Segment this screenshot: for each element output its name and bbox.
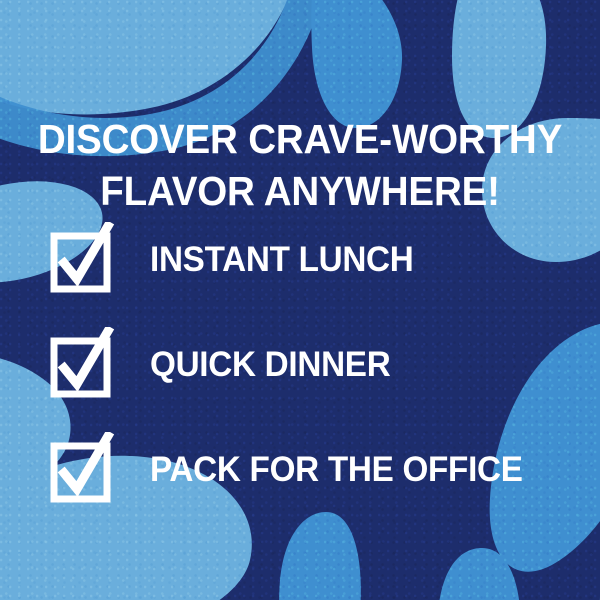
headline-line-1: DISCOVER CRAVE-WORTHY — [18, 113, 582, 165]
page-title: DISCOVER CRAVE-WORTHY FLAVOR ANYWHERE! — [18, 113, 582, 217]
list-item: INSTANT LUNCH — [0, 222, 600, 327]
benefit-label: PACK FOR THE OFFICE — [150, 452, 523, 488]
checkbox-checked-icon — [46, 432, 120, 504]
benefit-label: QUICK DINNER — [150, 347, 390, 383]
benefits-list: INSTANT LUNCH QUICK DINNER — [0, 222, 600, 537]
checkbox-checked-icon — [46, 327, 120, 399]
list-item: PACK FOR THE OFFICE — [0, 432, 600, 537]
list-item: QUICK DINNER — [0, 327, 600, 432]
promo-poster: DISCOVER CRAVE-WORTHY FLAVOR ANYWHERE! I… — [0, 0, 600, 600]
checkbox-checked-icon — [46, 222, 120, 294]
headline-line-2: FLAVOR ANYWHERE! — [18, 165, 582, 217]
benefit-label: INSTANT LUNCH — [150, 242, 414, 278]
